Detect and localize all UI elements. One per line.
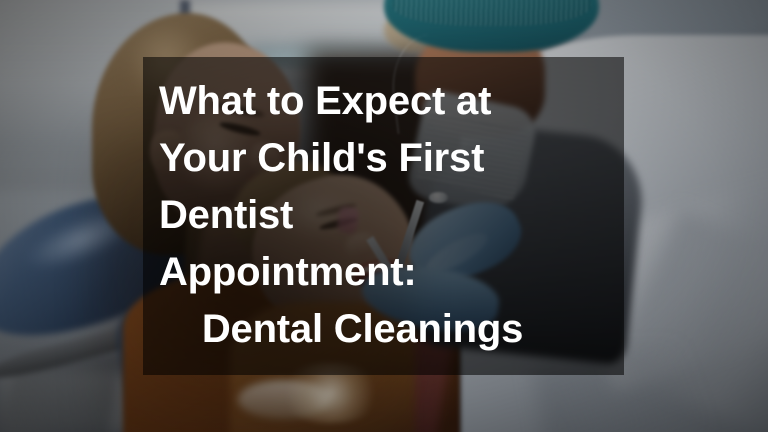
headline-line-5: Dental Cleanings [159,301,610,358]
article-hero-banner: What to Expect at Your Child's First Den… [0,0,768,432]
page-title: What to Expect at Your Child's First Den… [159,73,610,358]
title-overlay-panel: What to Expect at Your Child's First Den… [143,57,624,375]
headline-lines-1-4: What to Expect at Your Child's First Den… [159,79,491,294]
